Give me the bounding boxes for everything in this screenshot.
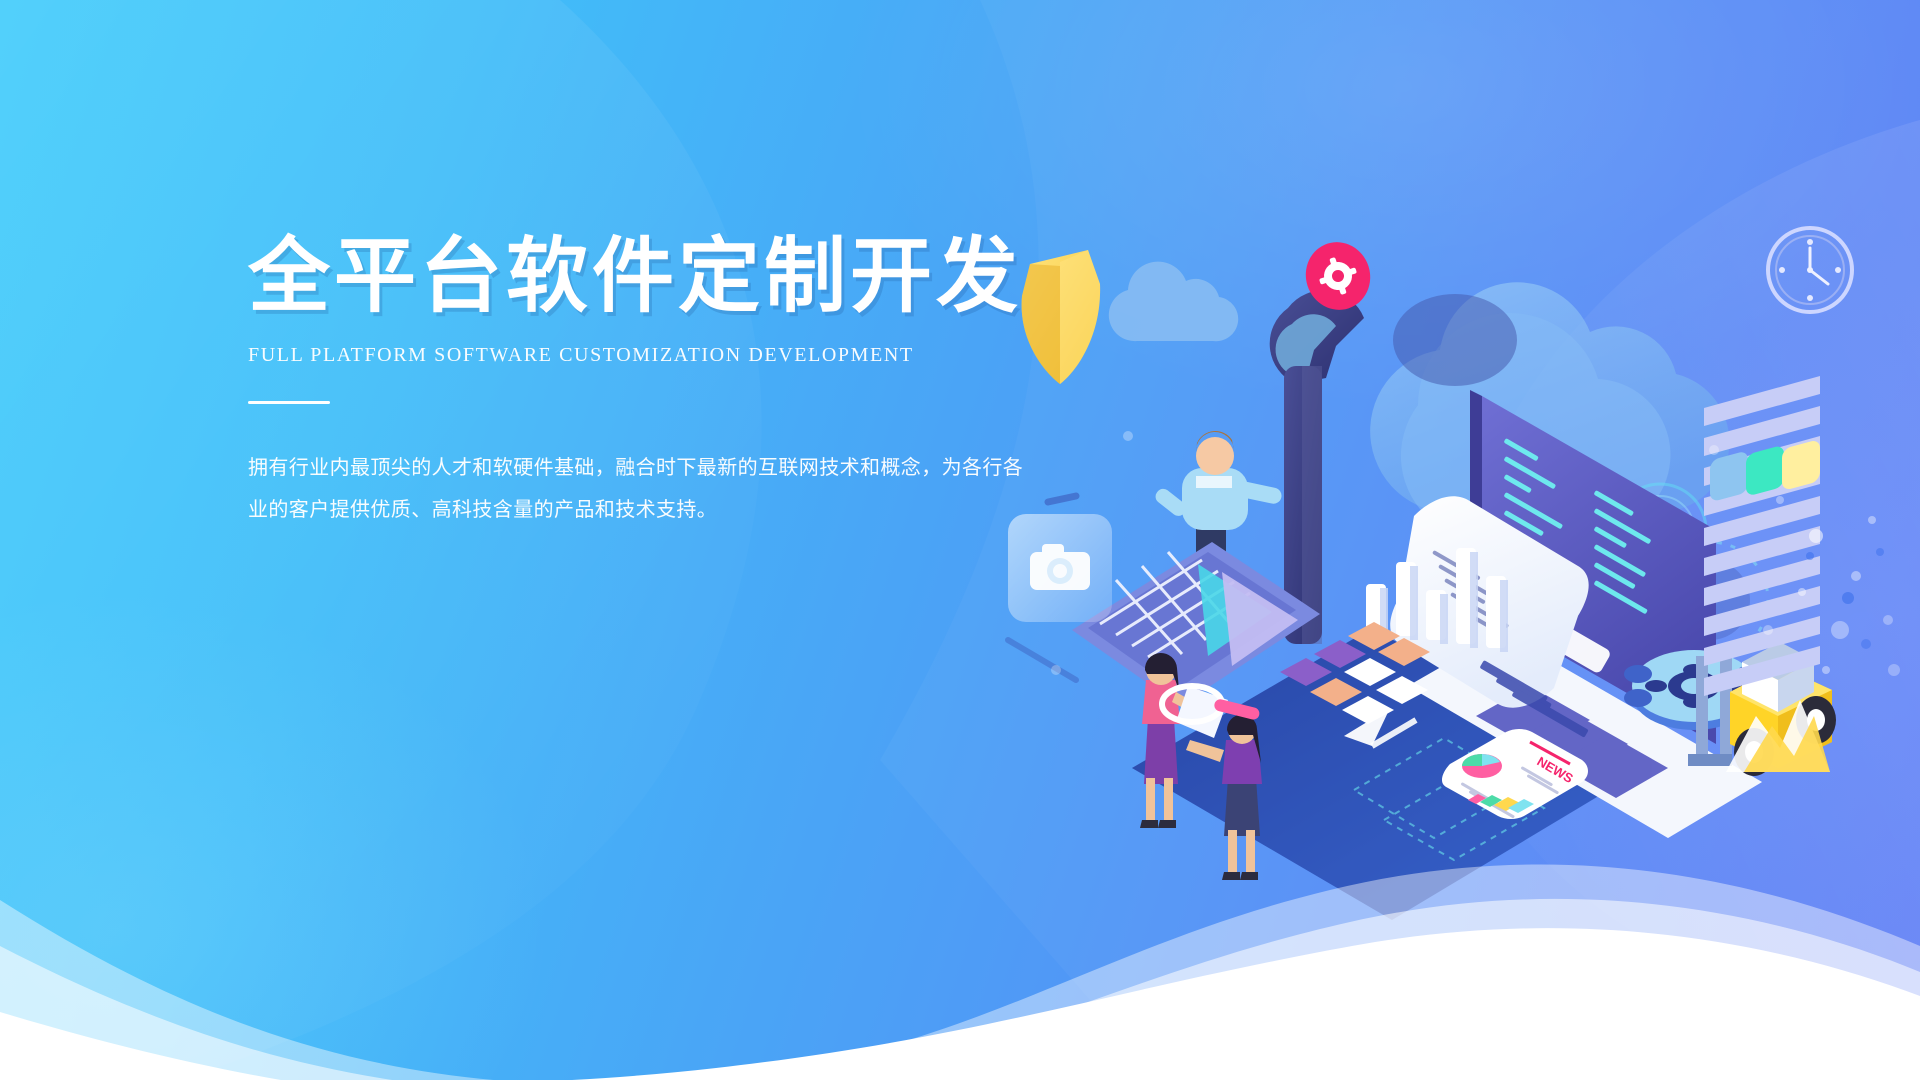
bottom-wave-decoration xyxy=(0,750,1920,1080)
hero-copy: 全平台软件定制开发 FULL PLATFORM SOFTWARE CUSTOMI… xyxy=(248,236,1088,530)
page-subtitle: FULL PLATFORM SOFTWARE CUSTOMIZATION DEV… xyxy=(248,344,1088,367)
cloud-small-icon xyxy=(1109,262,1238,342)
shield-icon xyxy=(1022,250,1101,384)
camera-icon xyxy=(1008,496,1112,680)
clock-icon xyxy=(1768,228,1852,312)
hero-description: 拥有行业内最顶尖的人才和软硬件基础，融合时下最新的互联网技术和概念，为各行各业的… xyxy=(248,446,1038,530)
hero-banner: 全平台软件定制开发 FULL PLATFORM SOFTWARE CUSTOMI… xyxy=(0,0,1920,1080)
title-divider xyxy=(248,401,330,404)
page-title: 全平台软件定制开发 xyxy=(248,236,1088,318)
